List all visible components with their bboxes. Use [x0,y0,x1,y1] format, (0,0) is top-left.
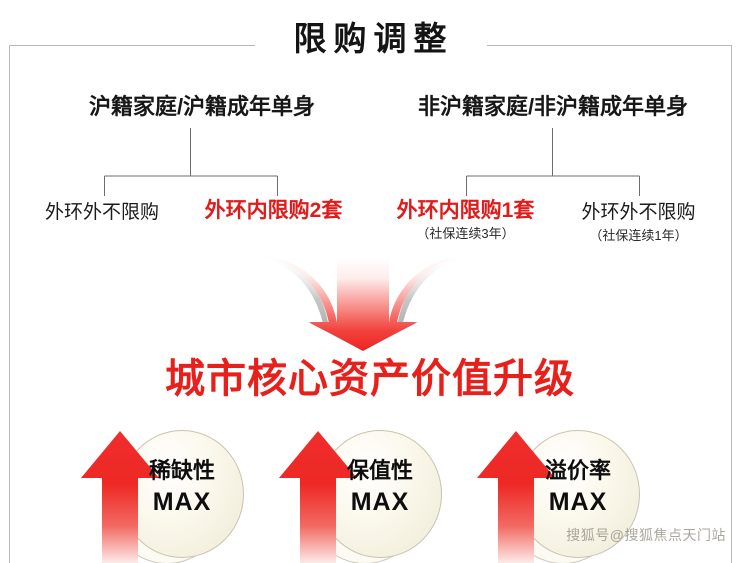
leaf-main-text: 外环内限购1套 [378,198,553,224]
badge-label: 保值性 [326,456,434,486]
leaf-main-text: 外环内限购2套 [186,198,361,224]
page-title: 限购调整 [0,18,740,60]
badge-value: MAX [128,486,236,519]
badge-value: MAX [326,486,434,519]
watermark: 搜狐号@搜狐焦点天门站 [566,525,726,545]
group-header-local: 沪籍家庭/沪籍成年单身 [42,92,362,122]
leaf-sub-text: （社保连续1年） [556,226,721,246]
leaf-sub-text: （社保连续3年） [378,224,553,244]
badge-text: 溢价率 MAX [524,456,632,519]
funnel-down-arrow-icon [258,252,468,352]
badge-label: 溢价率 [524,456,632,486]
infographic-canvas: 限购调整 沪籍家庭/沪籍成年单身 非沪籍家庭/非沪籍成年单身 外环外不限购 外环… [0,0,740,563]
badge-value: MAX [524,486,632,519]
leaf-inner-ring-two-units-local: 外环内限购2套 [186,198,361,224]
badge-label: 稀缺性 [128,456,236,486]
metric-badge: 稀缺性 MAX [80,418,276,563]
group-header-nonlocal: 非沪籍家庭/非沪籍成年单身 [388,92,718,122]
leaf-outer-ring-unrestricted-nonlocal: 外环外不限购 （社保连续1年） [556,200,721,246]
badge-text: 稀缺性 MAX [128,456,236,519]
leaf-main-text: 外环外不限购 [556,200,721,226]
badge-text: 保值性 MAX [326,456,434,519]
leaf-inner-ring-one-unit-nonlocal: 外环内限购1套 （社保连续3年） [378,198,553,244]
leaf-main-text: 外环外不限购 [22,200,182,226]
metric-badge: 保值性 MAX [278,418,474,563]
leaf-outer-ring-unrestricted-local: 外环外不限购 [22,200,182,226]
headline-text: 城市核心资产价值升级 [0,352,740,406]
